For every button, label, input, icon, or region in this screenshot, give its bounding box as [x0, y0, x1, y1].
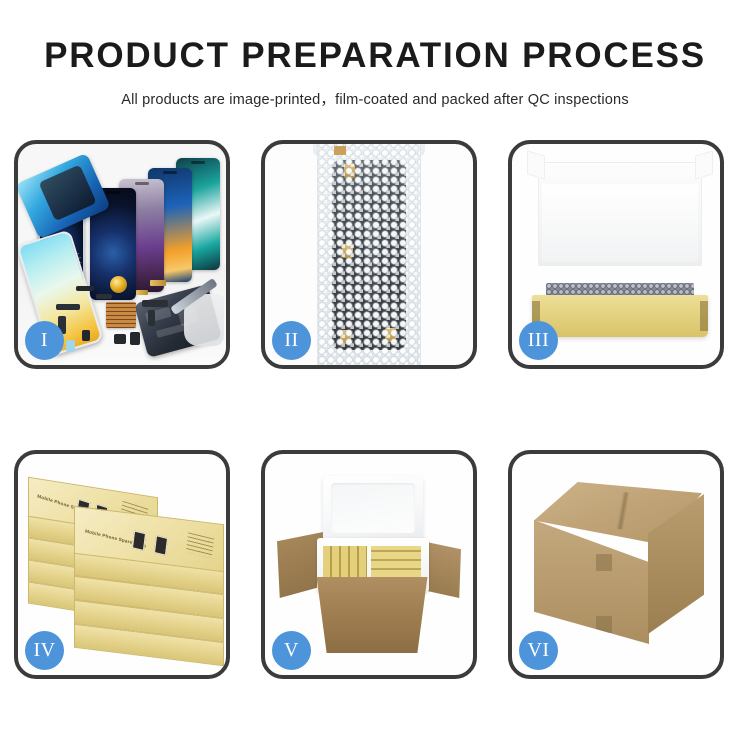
box-stack: Mobile Phone Spare Parts Mobile Phone Sp…	[28, 473, 224, 659]
bag-tape	[334, 146, 346, 155]
lid-tab-left	[527, 150, 545, 179]
gold-connector-part	[136, 290, 148, 295]
page-subtitle: All products are image-printed，film-coat…	[0, 88, 750, 109]
step-badge-3: III	[519, 321, 558, 360]
carton-tape-tab	[596, 616, 612, 633]
foam-box-lid	[323, 476, 423, 542]
chip-part	[114, 334, 126, 344]
box-thumbnail	[154, 535, 168, 556]
box-thumbnail	[132, 531, 146, 552]
flex-cable-part	[142, 300, 168, 307]
step-panel-2: II	[261, 140, 477, 369]
box-spec-lines	[186, 532, 214, 558]
step-panel-4: Mobile Phone Spare Parts Mobile Phone Sp…	[14, 450, 230, 679]
white-foam-sheet	[542, 184, 698, 262]
chip-part	[130, 332, 140, 345]
chip-part	[82, 330, 90, 341]
step-panel-3: III	[508, 140, 724, 369]
tray-end-right	[700, 301, 708, 331]
page-title: PRODUCT PREPARATION PROCESS	[0, 38, 750, 75]
step-badge-1: I	[25, 321, 64, 360]
bubble-texture-overlay	[318, 144, 420, 365]
step-panel-5: V	[261, 450, 477, 679]
flex-cable-part	[96, 294, 112, 299]
process-grid: I II	[14, 140, 736, 679]
bubble-wrap-bag	[317, 144, 421, 365]
carton-tape-tab	[596, 554, 612, 571]
step-badge-2: II	[272, 321, 311, 360]
process-infographic: PRODUCT PREPARATION PROCESS All products…	[0, 0, 750, 750]
header: PRODUCT PREPARATION PROCESS All products…	[0, 0, 750, 109]
step-badge-6: VI	[519, 631, 558, 670]
flex-cable-part	[56, 304, 80, 310]
flex-cable-part	[148, 310, 155, 326]
lid-tab-right	[695, 150, 713, 179]
gold-connector-part	[150, 280, 166, 286]
step-badge-4: IV	[25, 631, 64, 670]
step-badge-5: V	[272, 631, 311, 670]
kraft-tray-box	[532, 295, 708, 337]
chip-part	[76, 286, 94, 291]
foam-lid-recess	[331, 483, 415, 533]
step-panel-6: VI	[508, 450, 724, 679]
copper-mesh-part	[106, 302, 136, 328]
sim-tray-part	[66, 340, 75, 352]
step-panel-1: I	[14, 140, 230, 369]
speaker-coil-part	[110, 276, 127, 293]
carton-body	[309, 577, 435, 653]
